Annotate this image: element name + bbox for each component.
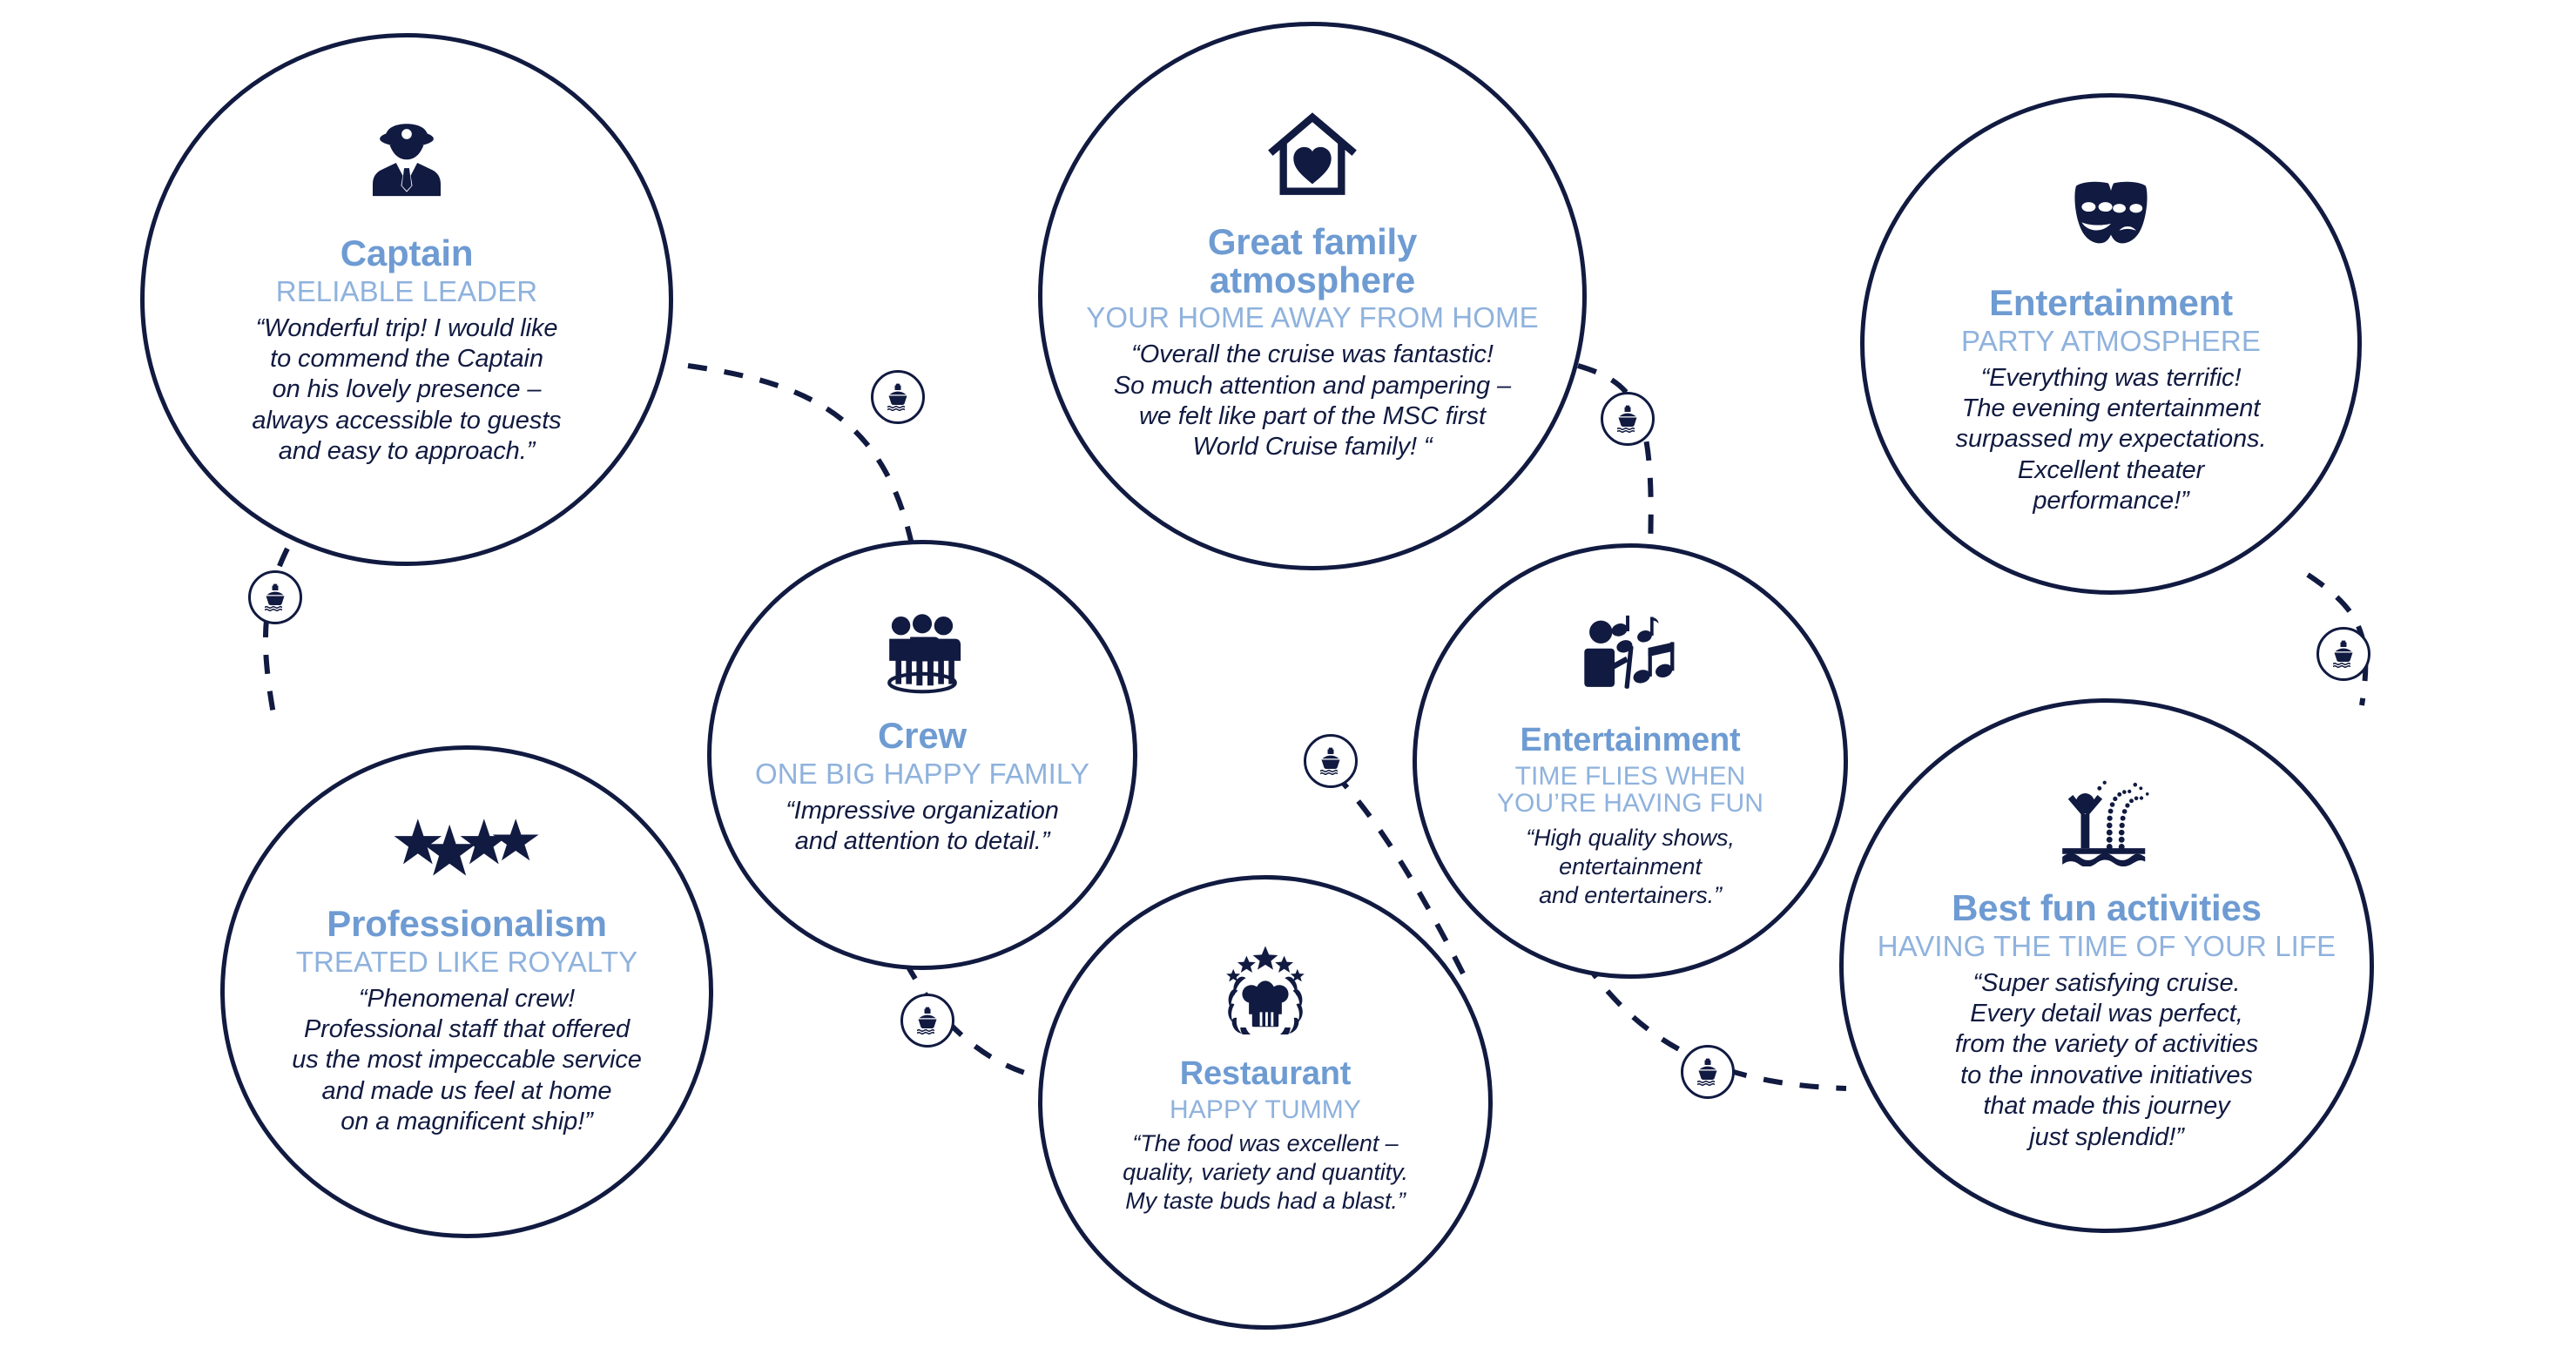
bubble-subtitle: HAPPY TUMMY xyxy=(1170,1096,1361,1124)
bubble-subtitle: TREATED LIKE ROYALTY xyxy=(296,947,638,978)
bubble-great-family-atmosphere[interactable]: Great family atmosphere YOUR HOME AWAY F… xyxy=(1038,22,1587,570)
house-heart-icon xyxy=(1264,110,1360,200)
connector-node-captain-crew[interactable] xyxy=(871,370,925,424)
line-family-entertainment-mid xyxy=(1578,366,1651,549)
ship-icon xyxy=(914,1007,941,1034)
bubble-quote: “Wonderful trip! I would like to commend… xyxy=(252,313,561,468)
bubble-subtitle: HAVING THE TIME OF YOUR LIFE xyxy=(1878,932,2337,962)
connector-node-family-entertainment-mid[interactable] xyxy=(1601,392,1655,446)
bubble-quote: “High quality shows, entertainment and e… xyxy=(1526,824,1735,910)
bubble-title: Captain xyxy=(341,234,474,273)
ship-icon xyxy=(1614,405,1642,433)
theater-masks-icon xyxy=(2062,178,2160,261)
bubble-subtitle: YOUR HOME AWAY FROM HOME xyxy=(1086,303,1538,334)
bubble-best-fun-activities[interactable]: Best fun activities HAVING THE TIME OF Y… xyxy=(1839,698,2374,1233)
bubble-subtitle: RELIABLE LEADER xyxy=(276,277,537,307)
pool-splash-icon xyxy=(2055,776,2158,866)
bubble-subtitle: TIME FLIES WHEN YOU’RE HAVING FUN xyxy=(1497,763,1763,819)
connector-node-entertainment-top-fun[interactable] xyxy=(2316,627,2370,681)
bubble-quote: “Overall the cruise was fantastic! So mu… xyxy=(1114,340,1511,463)
bubble-quote: “Everything was terrific! The evening en… xyxy=(1956,363,2267,517)
ship-icon xyxy=(2330,640,2357,668)
bubble-title: Professionalism xyxy=(327,905,606,943)
bubble-title: Best fun activities xyxy=(1952,889,2262,927)
bubble-restaurant[interactable]: Restaurant HAPPY TUMMY “The food was exc… xyxy=(1038,875,1493,1330)
bubble-quote: “Super satisfying cruise. Every detail w… xyxy=(1955,968,2258,1153)
infographic-canvas: Captain RELIABLE LEADER “Wonderful trip!… xyxy=(0,0,2576,1361)
bubble-entertainment-party[interactable]: Entertainment PARTY ATMOSPHERE “Everythi… xyxy=(1860,93,2362,595)
connector-node-restaurant-entertainment-mid[interactable] xyxy=(1304,734,1358,788)
bubble-title: Entertainment xyxy=(1989,284,2233,322)
connector-node-crew-restaurant[interactable] xyxy=(900,994,954,1048)
bubble-subtitle: ONE BIG HAPPY FAMILY xyxy=(755,759,1089,790)
connector-node-entertainment-mid-fun[interactable] xyxy=(1681,1045,1735,1099)
singer-music-notes-icon xyxy=(1581,610,1679,701)
bubble-quote: “Phenomenal crew! Professional staff tha… xyxy=(292,984,642,1138)
bubble-captain[interactable]: Captain RELIABLE LEADER “Wonderful trip!… xyxy=(140,33,673,566)
bubble-title: Entertainment xyxy=(1521,724,1741,758)
ship-icon xyxy=(884,383,912,411)
bubble-title: Crew xyxy=(878,717,967,755)
four-stars-icon xyxy=(392,816,542,882)
bubble-title: Restaurant xyxy=(1180,1057,1352,1092)
chef-hat-laurel-icon xyxy=(1217,944,1314,1034)
bubble-subtitle: PARTY ATMOSPHERE xyxy=(1961,327,2261,357)
bubble-title: Great family atmosphere xyxy=(1208,223,1417,299)
bubble-quote: “Impressive organization and attention t… xyxy=(786,796,1059,858)
three-people-icon xyxy=(877,614,968,694)
bubble-professionalism[interactable]: Professionalism TREATED LIKE ROYALTY “Ph… xyxy=(220,745,713,1238)
bubble-quote: “The food was excellent – quality, varie… xyxy=(1123,1129,1408,1216)
ship-icon xyxy=(1317,747,1345,775)
ship-icon xyxy=(261,583,289,611)
connector-node-captain-professionalism[interactable] xyxy=(248,570,302,624)
captain-officer-icon xyxy=(361,121,452,212)
ship-icon xyxy=(1694,1058,1722,1086)
